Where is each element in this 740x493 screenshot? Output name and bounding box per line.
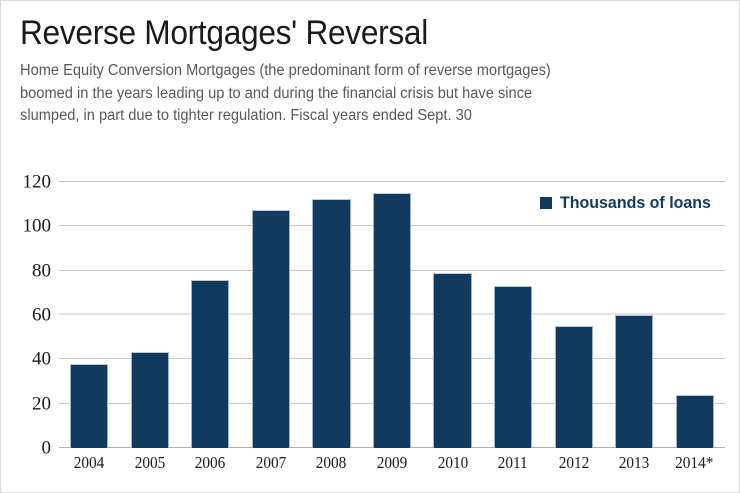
bar-2004 — [70, 364, 108, 448]
y-tick-label-80: 80 — [32, 261, 51, 280]
bar-slot-2009 — [362, 182, 423, 448]
page-title: Reverse Mortgages' Reversal — [20, 13, 671, 53]
chart-subtitle: Home Equity Conversion Mortgages (the pr… — [20, 60, 719, 128]
bar-2012 — [555, 326, 593, 448]
x-tick-label-2006: 2006 — [195, 453, 226, 473]
x-slot-2005: 2005 — [120, 453, 181, 473]
y-tick-label-40: 40 — [32, 350, 51, 369]
subtitle-line-3: slumped, in part due to tighter regulati… — [20, 105, 719, 128]
x-tick-label-2014: 2014* — [676, 453, 714, 473]
x-axis: 2004200520062007200820092010201120122013… — [59, 453, 725, 473]
x-tick-label-2004: 2004 — [74, 453, 105, 473]
x-tick-label-2009: 2009 — [377, 453, 408, 473]
x-tick-label-2012: 2012 — [558, 453, 589, 473]
y-tick-label-60: 60 — [32, 306, 51, 325]
x-slot-2009: 2009 — [362, 453, 423, 473]
x-slot-2013: 2013 — [604, 453, 665, 473]
x-slot-2008: 2008 — [301, 453, 362, 473]
chart-figure: Reverse Mortgages' Reversal Home Equity … — [0, 0, 740, 493]
bar-2005 — [131, 352, 169, 448]
bar-2011 — [494, 286, 532, 448]
bar-series — [59, 182, 725, 448]
x-tick-label-2011: 2011 — [498, 453, 528, 473]
bar-2006 — [191, 280, 229, 448]
bar-2014 — [676, 395, 714, 448]
bar-slot-2012 — [543, 182, 604, 448]
bar-2013 — [615, 315, 653, 448]
bar-slot-2013 — [604, 182, 665, 448]
bar-slot-2006 — [180, 182, 241, 448]
bar-slot-2014 — [664, 182, 725, 448]
subtitle-line-1: Home Equity Conversion Mortgages (the pr… — [20, 60, 719, 83]
bar-slot-2005 — [120, 182, 181, 448]
y-tick-label-0: 0 — [42, 439, 52, 458]
x-slot-2014: 2014* — [664, 453, 725, 473]
y-tick-label-100: 100 — [23, 217, 52, 236]
subtitle-line-2: boomed in the years leading up to and du… — [20, 83, 719, 106]
plot-wrapper: 020406080100120 200420052006200720082009… — [1, 169, 739, 492]
bar-slot-2004 — [59, 182, 120, 448]
bar-slot-2007 — [241, 182, 302, 448]
x-tick-label-2013: 2013 — [619, 453, 650, 473]
x-slot-2006: 2006 — [180, 453, 241, 473]
x-tick-label-2007: 2007 — [256, 453, 287, 473]
x-slot-2004: 2004 — [59, 453, 120, 473]
bar-2009 — [373, 193, 411, 448]
x-slot-2010: 2010 — [422, 453, 483, 473]
x-tick-label-2010: 2010 — [437, 453, 468, 473]
bar-2008 — [312, 199, 350, 448]
x-slot-2007: 2007 — [241, 453, 302, 473]
bar-slot-2010 — [422, 182, 483, 448]
x-tick-label-2008: 2008 — [316, 453, 347, 473]
x-tick-label-2005: 2005 — [135, 453, 166, 473]
bar-slot-2008 — [301, 182, 362, 448]
y-axis: 020406080100120 — [1, 169, 59, 448]
x-slot-2012: 2012 — [543, 453, 604, 473]
bar-slot-2011 — [483, 182, 544, 448]
bar-2007 — [252, 210, 290, 448]
y-tick-label-120: 120 — [23, 173, 52, 192]
plot-area — [59, 182, 725, 448]
y-tick-label-20: 20 — [32, 394, 51, 413]
x-slot-2011: 2011 — [483, 453, 544, 473]
chart-header: Reverse Mortgages' Reversal Home Equity … — [20, 13, 720, 128]
bar-2010 — [433, 273, 471, 448]
